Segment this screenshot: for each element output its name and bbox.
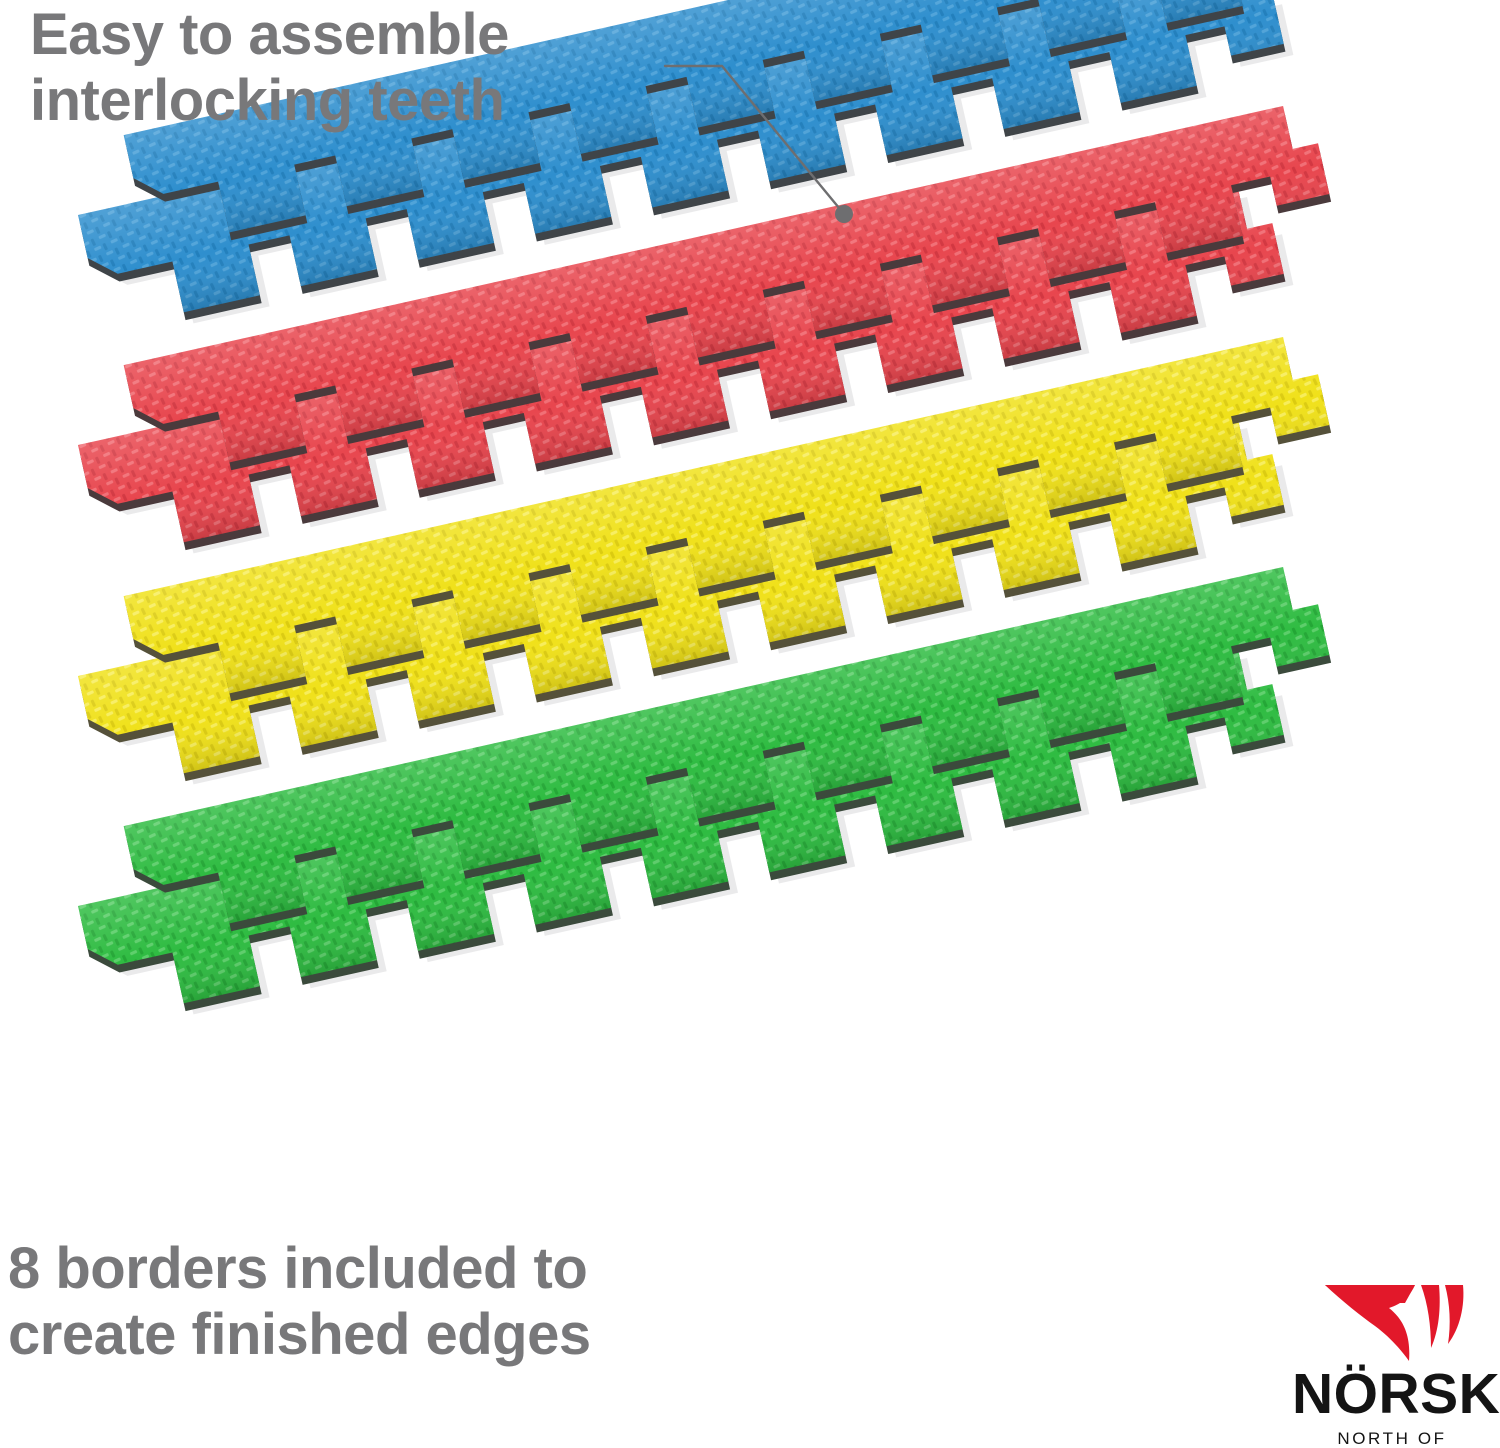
norsk-tagline: NORTH OF ORDINARY (1292, 1430, 1492, 1448)
product-infographic-page: Easy to assemble interlocking teeth 8 bo… (0, 0, 1500, 1448)
norsk-wing-mark-icon (1317, 1272, 1467, 1364)
foam-border-mats-illustration (0, 0, 1500, 1250)
norsk-brand-logo: NÖRSK ™ NORTH OF ORDINARY (1292, 1272, 1492, 1444)
norsk-wordmark: NÖRSK (1292, 1366, 1500, 1423)
mat-row-green (0, 0, 1500, 1250)
norsk-wordmark-group: NÖRSK ™ (1292, 1366, 1500, 1423)
callout-text-top: Easy to assemble interlocking teeth (30, 2, 509, 133)
callout-text-bottom: 8 borders included to create finished ed… (8, 1236, 591, 1367)
